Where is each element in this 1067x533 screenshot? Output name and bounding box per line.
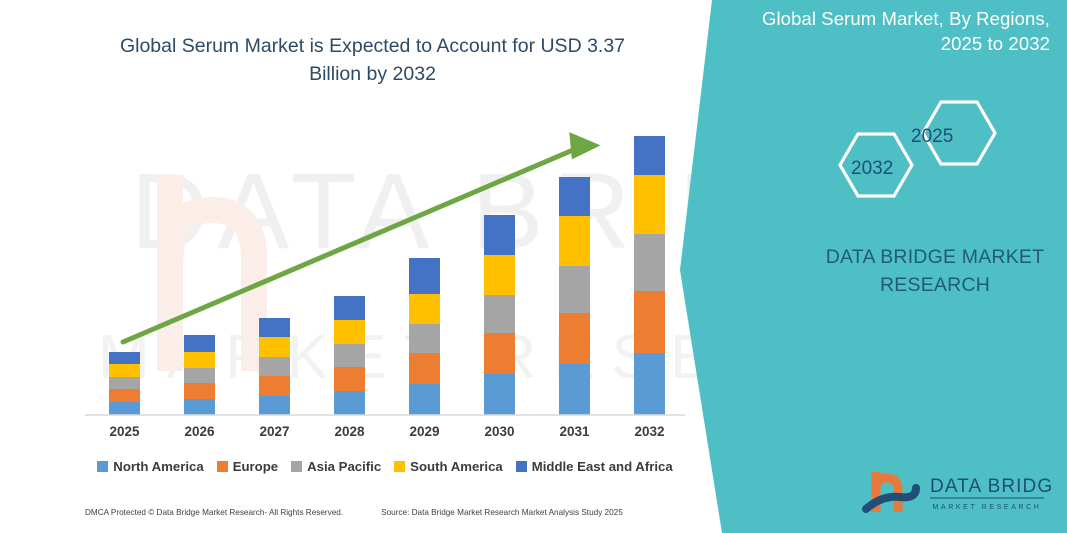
x-tick-2031: 2031 [540, 424, 610, 439]
bar-segment-middle-east-and-africa [334, 296, 365, 320]
hexagon-2032-label: 2032 [851, 158, 893, 180]
bar-segment-europe [259, 376, 290, 396]
data-bridge-logo: DATA BRIDGE MARKET RESEARCH [862, 468, 1052, 520]
bar-2031 [559, 177, 590, 415]
bar-segment-south-america [409, 294, 440, 324]
x-tick-2027: 2027 [240, 424, 310, 439]
bar-segment-north-america [559, 364, 590, 415]
panel-brand-text: DATA BRIDGE MARKET RESEARCH [790, 243, 1067, 299]
bar-segment-middle-east-and-africa [634, 136, 665, 175]
bar-segment-south-america [109, 364, 140, 377]
bar-segment-asia-pacific [334, 344, 365, 367]
logo-b-mark [876, 472, 898, 512]
bar-segment-europe [409, 353, 440, 384]
svg-text:DATA BRIDGE: DATA BRIDGE [930, 476, 1052, 497]
bar-segment-asia-pacific [259, 357, 290, 376]
bar-segment-asia-pacific [634, 234, 665, 291]
bar-segment-north-america [634, 353, 665, 415]
bar-segment-middle-east-and-africa [559, 177, 590, 216]
bar-segment-north-america [184, 399, 215, 415]
hexagon-2025-label: 2025 [911, 126, 953, 148]
bar-segment-europe [184, 383, 215, 399]
bar-segment-north-america [334, 391, 365, 415]
legend-label: Europe [233, 459, 278, 474]
bar-2030 [484, 215, 515, 415]
legend-item-south-america[interactable]: South America [394, 459, 503, 474]
bar-segment-north-america [109, 402, 140, 415]
bar-segment-middle-east-and-africa [109, 352, 140, 364]
bar-segment-europe [334, 367, 365, 391]
legend-item-north-america[interactable]: North America [97, 459, 203, 474]
bar-2029 [409, 258, 440, 415]
bar-2028 [334, 296, 365, 415]
x-tick-2029: 2029 [390, 424, 460, 439]
bar-segment-middle-east-and-africa [484, 215, 515, 255]
bar-segment-south-america [184, 352, 215, 368]
bar-segment-europe [634, 291, 665, 353]
bar-segment-north-america [484, 374, 515, 415]
chart-legend: North AmericaEuropeAsia PacificSouth Ame… [85, 455, 685, 477]
bar-segment-europe [559, 313, 590, 364]
legend-label: Middle East and Africa [532, 459, 673, 474]
footer-source-text: Source: Data Bridge Market Research Mark… [381, 508, 623, 517]
bar-segment-middle-east-and-africa [409, 258, 440, 294]
x-tick-2030: 2030 [465, 424, 535, 439]
legend-item-middle-east-and-africa[interactable]: Middle East and Africa [516, 459, 673, 474]
bar-segment-asia-pacific [184, 368, 215, 383]
legend-item-asia-pacific[interactable]: Asia Pacific [291, 459, 381, 474]
svg-text:MARKET RESEARCH: MARKET RESEARCH [933, 504, 1042, 511]
bar-2026 [184, 335, 215, 415]
bar-segment-north-america [409, 384, 440, 415]
bar-segment-south-america [634, 175, 665, 234]
x-tick-2032: 2032 [615, 424, 685, 439]
stacked-bar-chart [85, 100, 685, 430]
bar-segment-south-america [484, 255, 515, 295]
bar-segment-asia-pacific [109, 377, 140, 389]
bar-2027 [259, 318, 290, 415]
page-title: Global Serum Market is Expected to Accou… [100, 32, 645, 88]
legend-swatch-icon [291, 461, 302, 472]
bar-2025 [109, 352, 140, 415]
footer-dmca-text: DMCA Protected © Data Bridge Market Rese… [85, 508, 343, 517]
legend-item-europe[interactable]: Europe [217, 459, 278, 474]
bar-segment-middle-east-and-africa [184, 335, 215, 352]
footer: DMCA Protected © Data Bridge Market Rese… [85, 508, 685, 517]
bar-segment-asia-pacific [559, 266, 590, 313]
x-tick-2028: 2028 [315, 424, 385, 439]
bar-segment-south-america [259, 337, 290, 357]
bars-group [109, 136, 665, 415]
legend-swatch-icon [97, 461, 108, 472]
legend-swatch-icon [217, 461, 228, 472]
bar-segment-europe [109, 389, 140, 402]
legend-label: North America [113, 459, 203, 474]
bar-segment-south-america [334, 320, 365, 344]
legend-label: South America [410, 459, 503, 474]
bar-segment-north-america [259, 396, 290, 415]
bar-segment-asia-pacific [409, 324, 440, 353]
panel-title: Global Serum Market, By Regions, 2025 to… [740, 6, 1050, 56]
legend-swatch-icon [516, 461, 527, 472]
legend-swatch-icon [394, 461, 405, 472]
bar-segment-asia-pacific [484, 295, 515, 333]
x-tick-2026: 2026 [165, 424, 235, 439]
bar-segment-middle-east-and-africa [259, 318, 290, 337]
hexagon-badges [810, 95, 1020, 210]
bar-segment-south-america [559, 216, 590, 266]
legend-label: Asia Pacific [307, 459, 381, 474]
x-tick-2025: 2025 [90, 424, 160, 439]
bar-segment-europe [484, 333, 515, 374]
infographic-root: DATA BRIDGE MARKET RESEARCH Global Serum… [0, 0, 1067, 533]
x-axis-labels: 20252026202720282029203020312032 [85, 424, 685, 446]
bar-2032 [634, 136, 665, 415]
